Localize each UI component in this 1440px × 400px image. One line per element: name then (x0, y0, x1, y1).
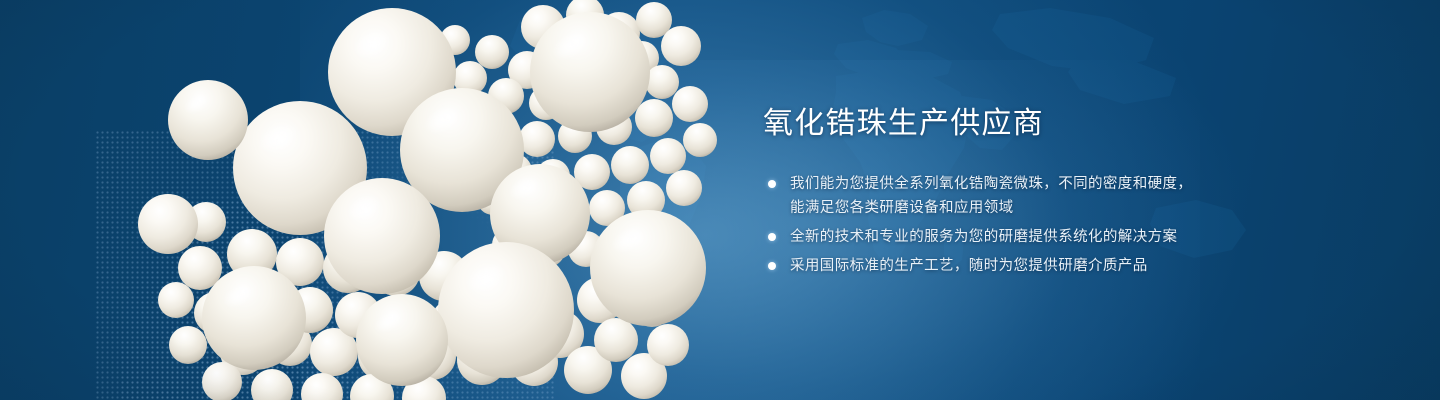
bullet-dot-icon (768, 180, 776, 188)
banner-copy: 氧化锆珠生产供应商 我们能为您提供全系列氧化锆陶瓷微珠，不同的密度和硬度， 能满… (763, 106, 1323, 278)
list-item: 采用国际标准的生产工艺，随时为您提供研磨介质产品 (763, 254, 1323, 278)
page-title: 氧化锆珠生产供应商 (763, 106, 1323, 143)
bullet-dot-icon (768, 233, 776, 241)
list-item-line: 我们能为您提供全系列氧化锆陶瓷微珠，不同的密度和硬度， (790, 172, 1323, 196)
list-item: 我们能为您提供全系列氧化锆陶瓷微珠，不同的密度和硬度， 能满足您各类研磨设备和应… (763, 172, 1323, 220)
list-item-line: 全新的技术和专业的服务为您的研磨提供系统化的解决方案 (790, 225, 1323, 249)
bullet-dot-icon (768, 262, 776, 270)
list-item-line: 能满足您各类研磨设备和应用领域 (790, 196, 1323, 220)
list-item: 全新的技术和专业的服务为您的研磨提供系统化的解决方案 (763, 225, 1323, 249)
list-item-line: 采用国际标准的生产工艺，随时为您提供研磨介质产品 (790, 254, 1323, 278)
feature-list: 我们能为您提供全系列氧化锆陶瓷微珠，不同的密度和硬度， 能满足您各类研磨设备和应… (763, 172, 1323, 278)
hero-banner: 氧化锆珠生产供应商 我们能为您提供全系列氧化锆陶瓷微珠，不同的密度和硬度， 能满… (0, 0, 1440, 400)
